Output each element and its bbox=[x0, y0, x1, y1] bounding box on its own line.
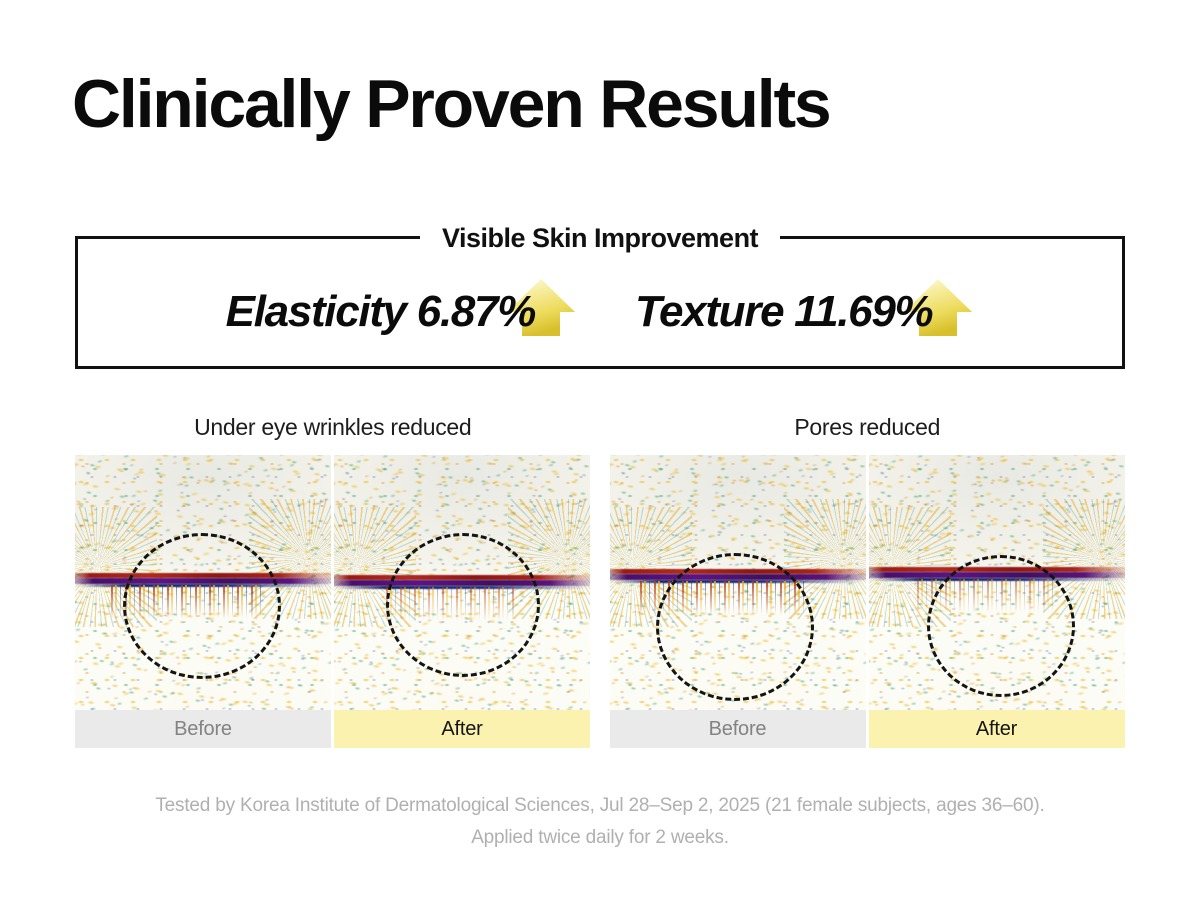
comparison-caption: Pores reduced bbox=[610, 414, 1126, 441]
panel-label-before: Before bbox=[610, 710, 866, 748]
highlight-circle bbox=[656, 553, 814, 701]
panel-label-before: Before bbox=[75, 710, 331, 748]
panel-before[interactable]: Before bbox=[610, 455, 866, 748]
stat-texture-text: Texture 11.69% bbox=[635, 287, 932, 337]
panel-label-after: After bbox=[334, 710, 590, 748]
skin-analysis-image-after bbox=[869, 455, 1125, 710]
panel-pair: Before After bbox=[610, 455, 1126, 748]
skin-analysis-image-before bbox=[610, 455, 866, 710]
stats-box-heading: Visible Skin Improvement bbox=[78, 223, 1122, 254]
skin-analysis-image-after bbox=[334, 455, 590, 710]
skin-analysis-image-before bbox=[75, 455, 331, 710]
panel-before[interactable]: Before bbox=[75, 455, 331, 748]
highlight-circle bbox=[927, 555, 1075, 697]
highlight-circle bbox=[386, 533, 540, 677]
page-title: Clinically Proven Results bbox=[72, 70, 830, 138]
panel-after[interactable]: After bbox=[334, 455, 590, 748]
stat-elasticity: Elasticity 6.87% bbox=[226, 277, 577, 347]
panel-label-after: After bbox=[869, 710, 1125, 748]
panel-pair: Before After bbox=[75, 455, 591, 748]
stats-box-heading-text: Visible Skin Improvement bbox=[420, 223, 780, 253]
comparison-group-pores: Pores reduced Before bbox=[610, 414, 1126, 748]
highlight-circle bbox=[123, 533, 281, 679]
stat-texture: Texture 11.69% bbox=[635, 277, 974, 347]
comparison-groups: Under eye wrinkles reduced Before bbox=[75, 414, 1125, 748]
comparison-caption: Under eye wrinkles reduced bbox=[75, 414, 591, 441]
footnote: Tested by Korea Institute of Dermatologi… bbox=[0, 790, 1200, 854]
stats-box: Visible Skin Improvement Elasticity 6.87… bbox=[75, 236, 1125, 369]
comparison-group-under-eye-wrinkles: Under eye wrinkles reduced Before bbox=[75, 414, 591, 748]
footnote-line-1: Tested by Korea Institute of Dermatologi… bbox=[0, 790, 1200, 822]
footnote-line-2: Applied twice daily for 2 weeks. bbox=[0, 822, 1200, 854]
stats-row: Elasticity 6.87% Texture 11.69% bbox=[78, 277, 1122, 347]
panel-after[interactable]: After bbox=[869, 455, 1125, 748]
stat-elasticity-text: Elasticity 6.87% bbox=[226, 287, 535, 337]
